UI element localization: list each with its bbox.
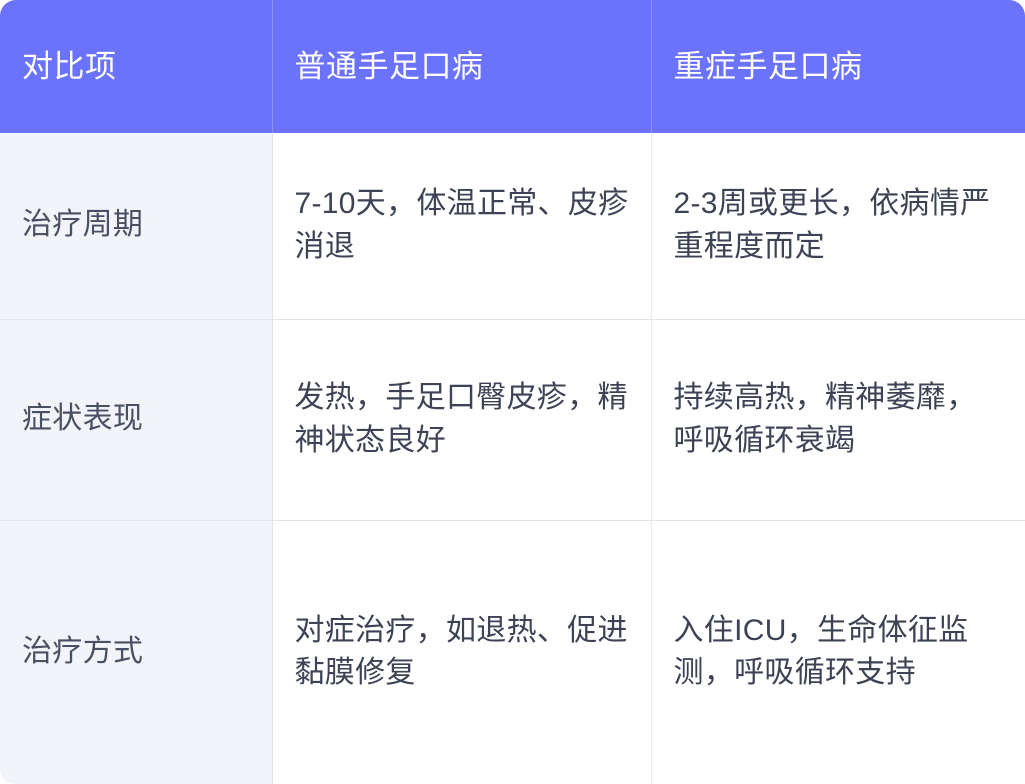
- cell-text: 症状表现: [22, 398, 250, 441]
- table-row: 症状表现 发热，手足口臀皮疹，精神状态良好 持续高热，精神萎靡，呼吸循环衰竭: [0, 319, 1025, 520]
- cell-severe-treatment-duration: 2-3周或更长，依病情严重程度而定: [651, 133, 1025, 319]
- cell-text: 入住ICU，生命体征监测，呼吸循环支持: [674, 610, 1004, 695]
- table-row: 治疗周期 7-10天，体温正常、皮疹消退 2-3周或更长，依病情严重程度而定: [0, 133, 1025, 319]
- header-row: 对比项 普通手足口病 重症手足口病: [0, 0, 1025, 133]
- column-header-severe: 重症手足口病: [651, 0, 1025, 133]
- row-label-treatment-method: 治疗方式: [0, 520, 272, 784]
- comparison-table-container: 对比项 普通手足口病 重症手足口病 治疗周期 7-10天，体温正常、皮疹消退 2…: [0, 0, 1025, 784]
- table-body: 治疗周期 7-10天，体温正常、皮疹消退 2-3周或更长，依病情严重程度而定 症…: [0, 133, 1025, 784]
- cell-mild-treatment-duration: 7-10天，体温正常、皮疹消退: [272, 133, 651, 319]
- column-header-criterion: 对比项: [0, 0, 272, 133]
- cell-text: 持续高热，精神萎靡，呼吸循环衰竭: [674, 377, 1004, 462]
- row-label-symptoms: 症状表现: [0, 319, 272, 520]
- row-label-treatment-duration: 治疗周期: [0, 133, 272, 319]
- comparison-table: 对比项 普通手足口病 重症手足口病 治疗周期 7-10天，体温正常、皮疹消退 2…: [0, 0, 1025, 784]
- cell-severe-treatment-method: 入住ICU，生命体征监测，呼吸循环支持: [651, 520, 1025, 784]
- cell-severe-symptoms: 持续高热，精神萎靡，呼吸循环衰竭: [651, 319, 1025, 520]
- cell-text: 治疗方式: [22, 631, 250, 674]
- table-header: 对比项 普通手足口病 重症手足口病: [0, 0, 1025, 133]
- column-header-mild: 普通手足口病: [272, 0, 651, 133]
- cell-mild-treatment-method: 对症治疗，如退热、促进黏膜修复: [272, 520, 651, 784]
- cell-mild-symptoms: 发热，手足口臀皮疹，精神状态良好: [272, 319, 651, 520]
- cell-text: 治疗周期: [22, 204, 250, 247]
- cell-text: 发热，手足口臀皮疹，精神状态良好: [295, 377, 629, 462]
- table-row: 治疗方式 对症治疗，如退热、促进黏膜修复 入住ICU，生命体征监测，呼吸循环支持: [0, 520, 1025, 784]
- cell-text: 7-10天，体温正常、皮疹消退: [295, 183, 629, 268]
- cell-text: 2-3周或更长，依病情严重程度而定: [674, 183, 1004, 268]
- cell-text: 对症治疗，如退热、促进黏膜修复: [295, 610, 629, 695]
